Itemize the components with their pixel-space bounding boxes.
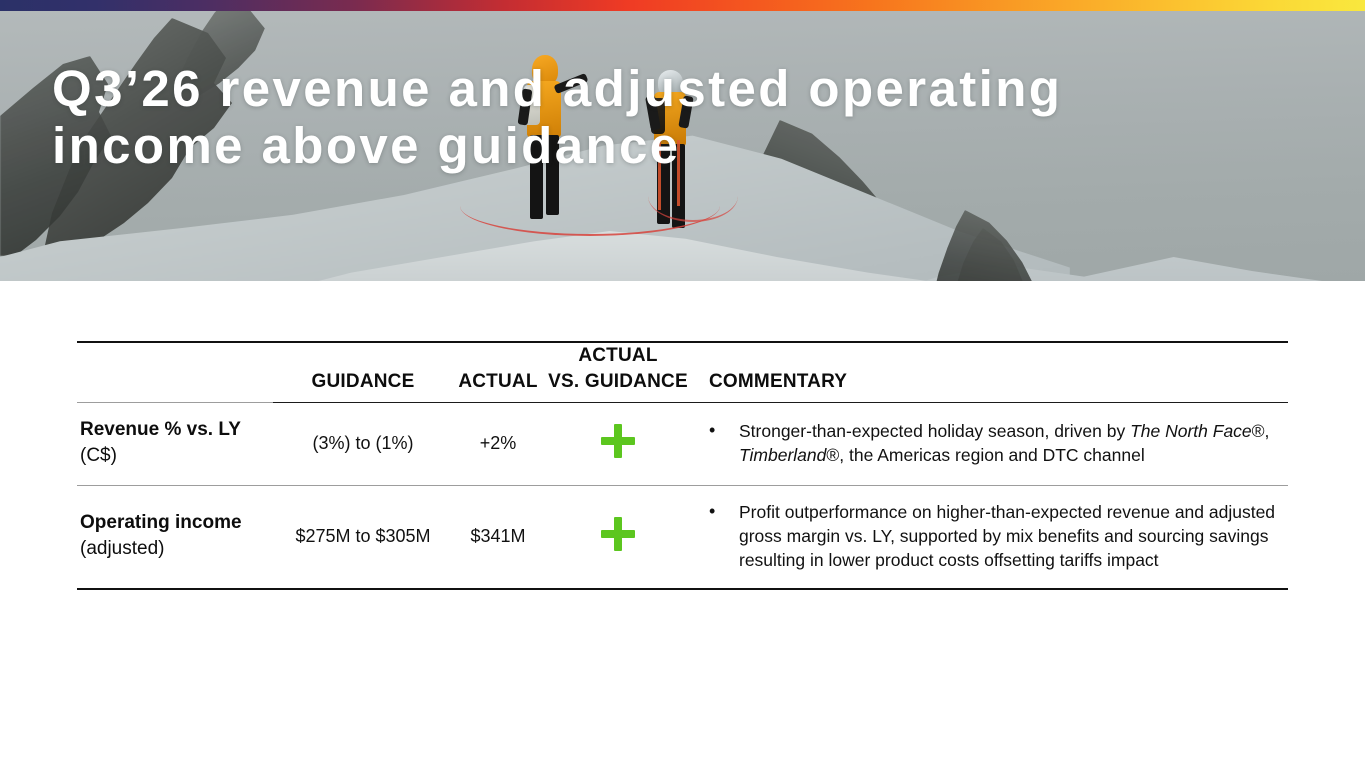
- column-header-vs-line2: VS. GUIDANCE: [548, 371, 688, 392]
- title-line-2: income above guidance: [52, 117, 1172, 174]
- commentary-list: Stronger-than-expected holiday season, d…: [709, 419, 1288, 467]
- metric-label: Operating income (adjusted): [77, 486, 273, 590]
- vs-guidance-cell: [543, 403, 693, 486]
- column-header-vs-line1: ACTUAL: [543, 343, 693, 369]
- table-row: Operating income (adjusted) $275M to $30…: [77, 486, 1288, 590]
- commentary-cell: Stronger-than-expected holiday season, d…: [693, 403, 1288, 486]
- column-header-guidance: GUIDANCE: [273, 343, 453, 403]
- page-title: Q3’26 revenue and adjusted operating inc…: [52, 60, 1172, 174]
- vs-guidance-cell: [543, 486, 693, 590]
- metrics-table-container: GUIDANCE ACTUAL ACTUAL VS. GUIDANCE COMM…: [77, 341, 1288, 590]
- metric-label: Revenue % vs. LY (C$): [77, 403, 273, 486]
- column-header-commentary: COMMENTARY: [693, 343, 1288, 403]
- table-header: GUIDANCE ACTUAL ACTUAL VS. GUIDANCE COMM…: [77, 342, 1288, 403]
- plus-icon: [601, 517, 635, 551]
- hero-banner: Q3’26 revenue and adjusted operating inc…: [0, 0, 1365, 281]
- commentary-list: Profit outperformance on higher-than-exp…: [709, 500, 1288, 572]
- plus-icon: [601, 424, 635, 458]
- slide-footer: Q3’26 EARNINGS Note: Q3’26 guidance and …: [0, 692, 1365, 768]
- column-header-label: [77, 343, 273, 403]
- metrics-table: GUIDANCE ACTUAL ACTUAL VS. GUIDANCE COMM…: [77, 341, 1288, 590]
- title-line-1: Q3’26 revenue and adjusted operating: [52, 60, 1172, 117]
- guidance-value: $275M to $305M: [273, 486, 453, 590]
- column-header-actual: ACTUAL: [453, 343, 543, 403]
- metric-name: Revenue % vs. LY: [80, 417, 273, 443]
- metric-qualifier: (adjusted): [80, 536, 273, 562]
- table-body: Revenue % vs. LY (C$) (3%) to (1%) +2% S…: [77, 403, 1288, 590]
- list-item: Profit outperformance on higher-than-exp…: [709, 500, 1288, 572]
- commentary-cell: Profit outperformance on higher-than-exp…: [693, 486, 1288, 590]
- metric-name: Operating income: [80, 510, 273, 536]
- brand-gradient-bar: [0, 0, 1365, 11]
- table-row: Revenue % vs. LY (C$) (3%) to (1%) +2% S…: [77, 403, 1288, 486]
- guidance-value: (3%) to (1%): [273, 403, 453, 486]
- list-item: Stronger-than-expected holiday season, d…: [709, 419, 1288, 467]
- slide: Q3’26 revenue and adjusted operating inc…: [0, 0, 1365, 768]
- actual-value: $341M: [453, 486, 543, 590]
- actual-value: +2%: [453, 403, 543, 486]
- table-header-row: GUIDANCE ACTUAL ACTUAL VS. GUIDANCE COMM…: [77, 343, 1288, 403]
- metric-qualifier: (C$): [80, 443, 273, 469]
- column-header-actual-vs-guidance: ACTUAL VS. GUIDANCE: [543, 343, 693, 403]
